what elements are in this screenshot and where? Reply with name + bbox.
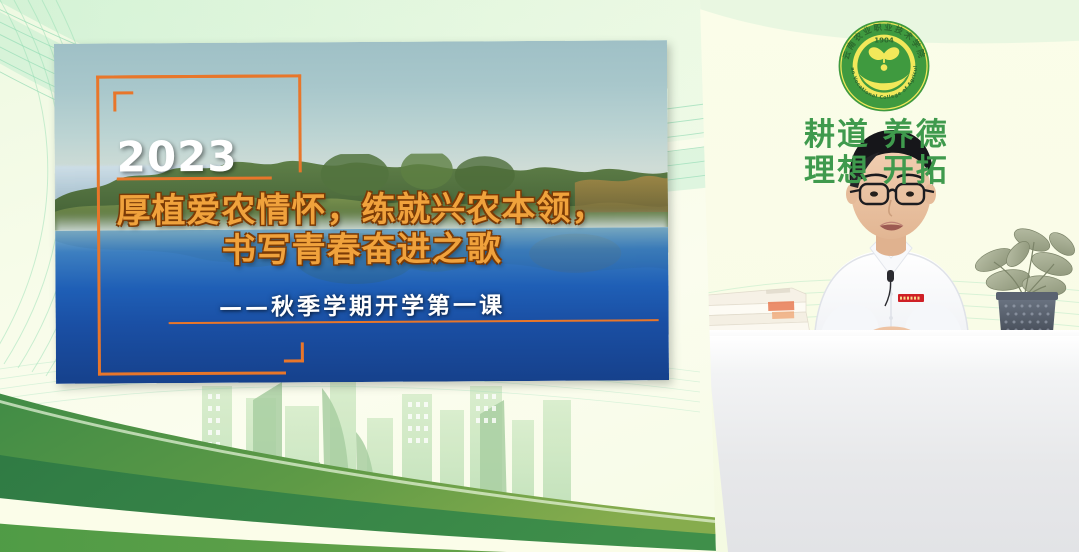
- school-motto-line-2: 理想 开拓: [804, 154, 1079, 190]
- slide-subtitle: ——秋季学期开学第一课: [55, 285, 668, 323]
- slide-year: 2023: [117, 136, 238, 179]
- slide-headline: 厚植爱农情怀，练就兴农本领， 书写青春奋进之歌: [55, 188, 668, 272]
- potted-plant: [972, 210, 1077, 350]
- school-motto: 耕道 养德 理想 开拓: [694, 118, 1079, 189]
- slide-frame-corner-mark-bottom-right: [284, 342, 304, 362]
- slide-frame-corner-mark-top-left: [113, 91, 133, 111]
- video-frame: 2023 厚植爱农情怀，练就兴农本领， 书写青春奋进之歌 ——秋季学期开学第一课: [0, 0, 1079, 552]
- school-seal: 1904 云南农业职业技术学院 Yunnan Vocational Colleg…: [837, 19, 931, 113]
- presentation-slide[interactable]: 2023 厚植爱农情怀，练就兴农本领， 书写青春奋进之歌 ——秋季学期开学第一课: [54, 40, 669, 384]
- presenter-video-panel[interactable]: 1904 云南农业职业技术学院 Yunnan Vocational Colleg…: [694, 0, 1079, 552]
- slide-headline-line-1: 厚植爱农情怀，练就兴农本领，: [116, 189, 606, 232]
- seal-founding-year: 1904: [874, 36, 894, 45]
- slide-headline-line-2: 书写青春奋进之歌: [55, 228, 668, 272]
- slide-frame-right-stub: [298, 74, 302, 172]
- desk-front-panel: [694, 336, 1079, 552]
- school-motto-line-1: 耕道 养德: [804, 118, 1079, 154]
